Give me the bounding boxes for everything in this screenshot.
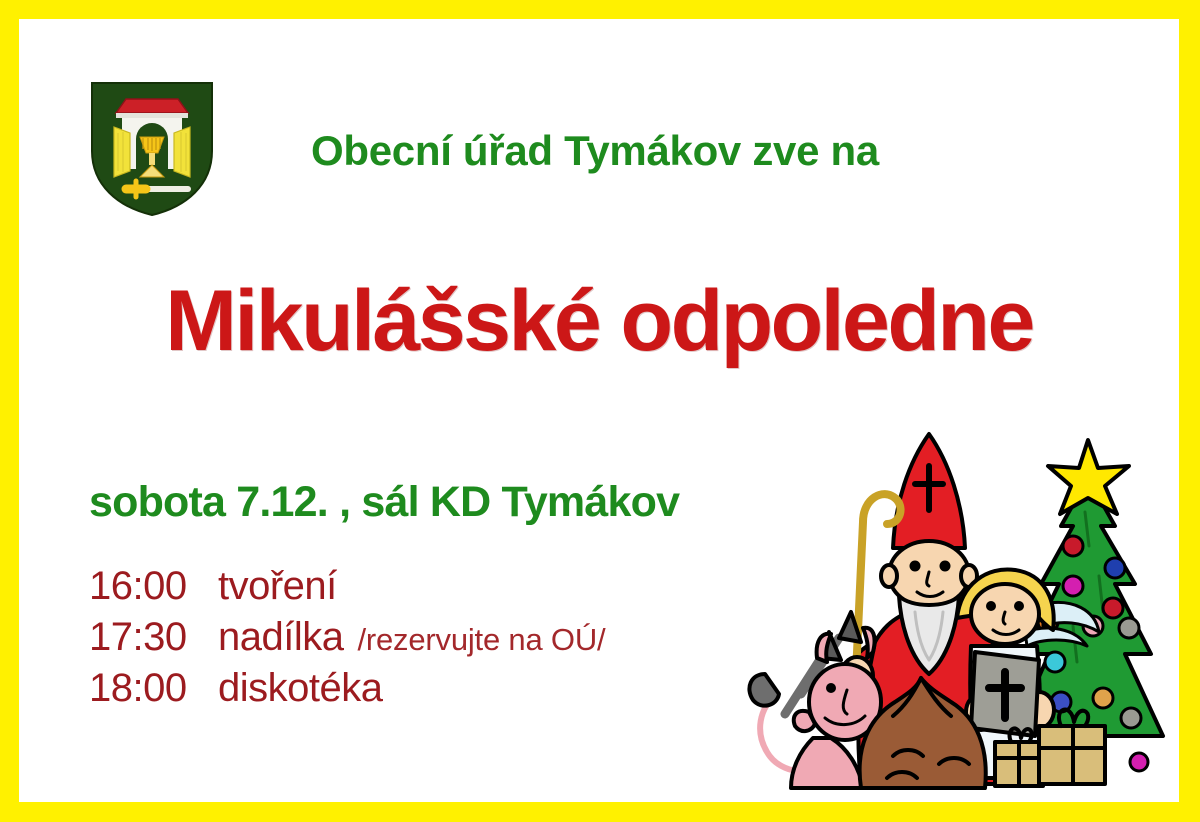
schedule-row: 17:30 nadílka /rezervujte na OÚ/ [89, 615, 605, 666]
poster-frame: Obecní úřad Tymákov zve na Mikulášské od… [0, 0, 1200, 822]
poster-canvas: Obecní úřad Tymákov zve na Mikulášské od… [19, 19, 1179, 802]
schedule-row: 18:00 diskotéka [89, 666, 605, 717]
poster-header-text: Obecní úřad Tymákov zve na [311, 127, 879, 175]
page-title: Mikulášské odpoledne [165, 272, 1033, 371]
schedule-note: /rezervujte na OÚ/ [357, 622, 605, 658]
schedule-label: tvoření [218, 564, 337, 609]
schedule-time: 18:00 [89, 666, 201, 711]
event-schedule: 16:00 tvoření 17:30 nadílka /rezervujte … [89, 564, 605, 717]
book-icon [971, 652, 1039, 736]
mikulas-illustration [743, 426, 1173, 802]
schedule-label: nadílka [218, 615, 343, 660]
schedule-time: 16:00 [89, 564, 201, 609]
event-date-venue: sobota 7.12. , sál KD Tymákov [89, 478, 679, 527]
schedule-row: 16:00 tvoření [89, 564, 605, 615]
schedule-time: 17:30 [89, 615, 201, 660]
schedule-label: diskotéka [218, 666, 382, 711]
tymakov-coat-of-arms-icon [86, 77, 218, 219]
